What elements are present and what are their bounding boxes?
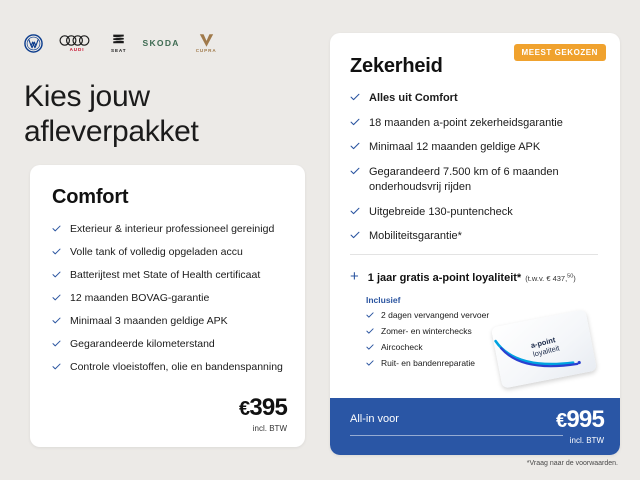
list-item: Volle tank of volledig opgeladen accu [52, 246, 285, 260]
allin-price-block: €995 incl. BTW [556, 408, 604, 445]
list-item: Minimaal 12 maanden geldige APK [350, 140, 602, 155]
list-item: Mobiliteitsgarantie* [350, 229, 602, 244]
list-item: Gegarandeerd 7.500 km of 6 maanden onder… [350, 165, 602, 194]
check-icon [350, 166, 360, 176]
footnote: *Vraag naar de voorwaarden. [527, 460, 618, 467]
bonus-value-suffix: ) [573, 274, 576, 283]
delivery-package-promo-page: Audi SEAT SKODA CUPRA Kies jouw afleverp… [0, 0, 640, 480]
list-item-label: Gegarandeerde kilometerstand [70, 338, 215, 352]
check-icon [366, 343, 374, 351]
brand-logo-strip: Audi SEAT SKODA CUPRA [24, 30, 217, 56]
zekerheid-feature-list: Alles uit Comfort 18 maanden a-point zek… [350, 91, 602, 244]
comfort-price-amount: 395 [249, 394, 287, 421]
bonus-label: 1 jaar gratis a-point loyaliteit* [368, 272, 521, 284]
list-item-label: Mobiliteitsgarantie* [369, 229, 462, 244]
comfort-price-note: incl. BTW [239, 424, 287, 433]
list-item-label: Minimaal 3 maanden geldige APK [70, 315, 228, 329]
list-item-label: Exterieur & interieur professioneel gere… [70, 223, 274, 237]
page-title-line1: Kies jouw [24, 80, 150, 113]
check-icon [350, 141, 360, 151]
seat-logo-caption: SEAT [111, 49, 127, 54]
check-icon [52, 247, 61, 256]
list-item-label: 12 maanden BOVAG-garantie [70, 292, 209, 306]
list-item-label: 18 maanden a-point zekerheidsgarantie [369, 116, 563, 131]
allin-price-amount: 995 [566, 406, 604, 433]
list-item-label: Alles uit Comfort [369, 91, 458, 106]
list-item: 12 maanden BOVAG-garantie [52, 292, 285, 306]
list-item: Uitgebreide 130-puntencheck [350, 205, 602, 220]
audi-logo-caption: Audi [70, 48, 85, 53]
bonus-row: + 1 jaar gratis a-point loyaliteit*(t.w.… [350, 268, 604, 286]
allin-price-bar: All-in voor €995 incl. BTW [330, 398, 620, 455]
list-item-label: Batterijtest met State of Health certifi… [70, 269, 260, 283]
list-item: 18 maanden a-point zekerheidsgarantie [350, 116, 602, 131]
skoda-logo-wordmark: SKODA [143, 38, 180, 48]
volkswagen-logo [24, 34, 43, 53]
check-icon [366, 311, 374, 319]
comfort-price-block: €395 incl. BTW [239, 396, 287, 433]
section-divider [350, 254, 598, 255]
check-icon [52, 293, 61, 302]
list-item-label: Volle tank of volledig opgeladen accu [70, 246, 243, 260]
list-item-label: Ruit- en bandenreparatie [381, 358, 475, 369]
allin-label: All-in voor [350, 413, 399, 425]
check-icon [350, 206, 360, 216]
package-card-comfort[interactable]: Comfort Exterieur & interieur profession… [30, 165, 305, 447]
bonus-label-wrap: 1 jaar gratis a-point loyaliteit*(t.w.v.… [368, 268, 576, 286]
check-icon [52, 270, 61, 279]
check-icon [350, 230, 360, 240]
check-icon [52, 339, 61, 348]
status-badge: MEEST GEKOZEN [514, 44, 607, 61]
list-item-label: 2 dagen vervangend vervoer [381, 310, 489, 321]
allin-price: €995 [556, 408, 604, 432]
list-item: Exterieur & interieur professioneel gere… [52, 223, 285, 237]
check-icon [52, 316, 61, 325]
comfort-card-title: Comfort [52, 186, 305, 209]
check-icon [350, 117, 360, 127]
check-icon [366, 359, 374, 367]
included-title: Inclusief [366, 295, 620, 305]
allin-price-currency: € [556, 410, 566, 432]
list-item-label: Zomer- en winterchecks [381, 326, 472, 337]
cupra-logo-caption: CUPRA [196, 49, 217, 54]
list-item: Minimaal 3 maanden geldige APK [52, 315, 285, 329]
check-icon [366, 327, 374, 335]
audi-logo: Audi [59, 34, 95, 53]
plus-icon: + [350, 269, 359, 284]
page-title-line2: afleverpakket [24, 115, 199, 148]
allin-rule [350, 435, 563, 436]
list-item: Gegarandeerde kilometerstand [52, 338, 285, 352]
list-item-label: Gegarandeerd 7.500 km of 6 maanden onder… [369, 165, 602, 194]
list-item: Batterijtest met State of Health certifi… [52, 269, 285, 283]
comfort-feature-list: Exterieur & interieur professioneel gere… [52, 223, 285, 375]
check-icon [350, 92, 360, 102]
comfort-price: €395 [239, 396, 287, 420]
check-icon [52, 224, 61, 233]
list-item-label: Aircocheck [381, 342, 423, 353]
list-item: Controle vloeistoffen, olie en bandenspa… [52, 361, 285, 375]
check-icon [52, 362, 61, 371]
list-item-label: Controle vloeistoffen, olie en bandenspa… [70, 361, 283, 375]
comfort-price-currency: € [239, 398, 249, 420]
cupra-logo: CUPRA [196, 33, 217, 54]
page-title: Kies jouw afleverpakket [24, 80, 294, 150]
bonus-value: (t.w.v. € 437,50) [525, 274, 576, 283]
seat-logo: SEAT [111, 32, 127, 53]
package-card-zekerheid[interactable]: MEEST GEKOZEN Zekerheid Alles uit Comfor… [330, 33, 620, 455]
list-item-label: Uitgebreide 130-puntencheck [369, 205, 513, 220]
list-item-label: Minimaal 12 maanden geldige APK [369, 140, 540, 155]
bonus-value-prefix: (t.w.v. € 437, [525, 274, 567, 283]
skoda-logo: SKODA [143, 38, 180, 48]
list-item: Alles uit Comfort [350, 91, 602, 106]
allin-price-note: incl. BTW [556, 436, 604, 445]
